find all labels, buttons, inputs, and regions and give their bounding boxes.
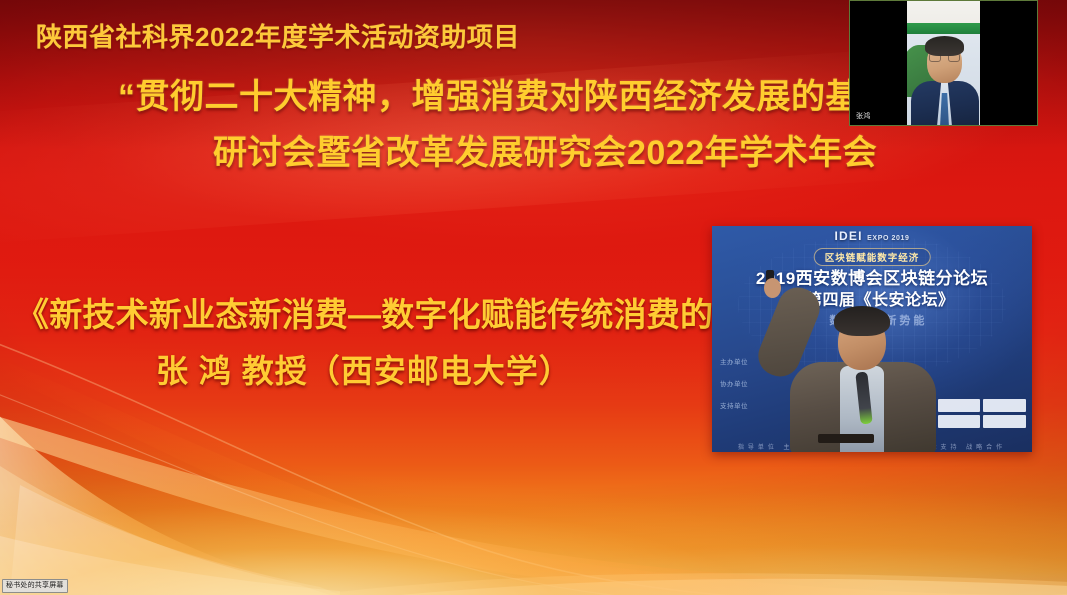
photo-side-label-1: 主办单位 [720,356,748,366]
webcam-letterbox-left [850,1,907,125]
photo-presenter-hair [834,306,890,336]
photo-expo-logo: IDEI EXPO 2019 [834,229,909,243]
webcam-tile[interactable]: 张鸿 [849,0,1038,126]
photo-presenter-belt [818,434,874,443]
screen-share-indicator: 秘书处的共享屏幕 [2,579,68,593]
webcam-participant-name: 张鸿 [854,112,873,121]
photo-side-label-2: 协办单位 [720,378,748,388]
glasses-lens-right [948,53,960,62]
webcam-video-feed [907,1,982,125]
sponsor-logo-tile [983,399,1026,412]
photo-side-label-3: 支持单位 [720,400,748,410]
photo-expo-brand: IDEI [834,229,862,243]
sponsor-logo-tile [938,415,981,428]
photo-expo-brand-sub: EXPO 2019 [867,235,909,242]
photo-presenter-hand [764,278,781,298]
sponsor-logo-tile [983,415,1026,428]
webcam-person-glasses [929,53,960,62]
shared-screen-slide: 陕西省社科界2022年度学术活动资助项目 “贯彻二十大精神，增强消费对陕西经济发… [0,0,1067,595]
glasses-lens-left [929,53,941,62]
webcam-background-green-band [907,23,982,34]
sponsor-logo-tile [938,399,981,412]
conference-photo: IDEI EXPO 2019 区块链赋能数字经济 2019西安数博会区块链分论坛… [712,226,1032,452]
webcam-letterbox-right [980,1,1037,125]
